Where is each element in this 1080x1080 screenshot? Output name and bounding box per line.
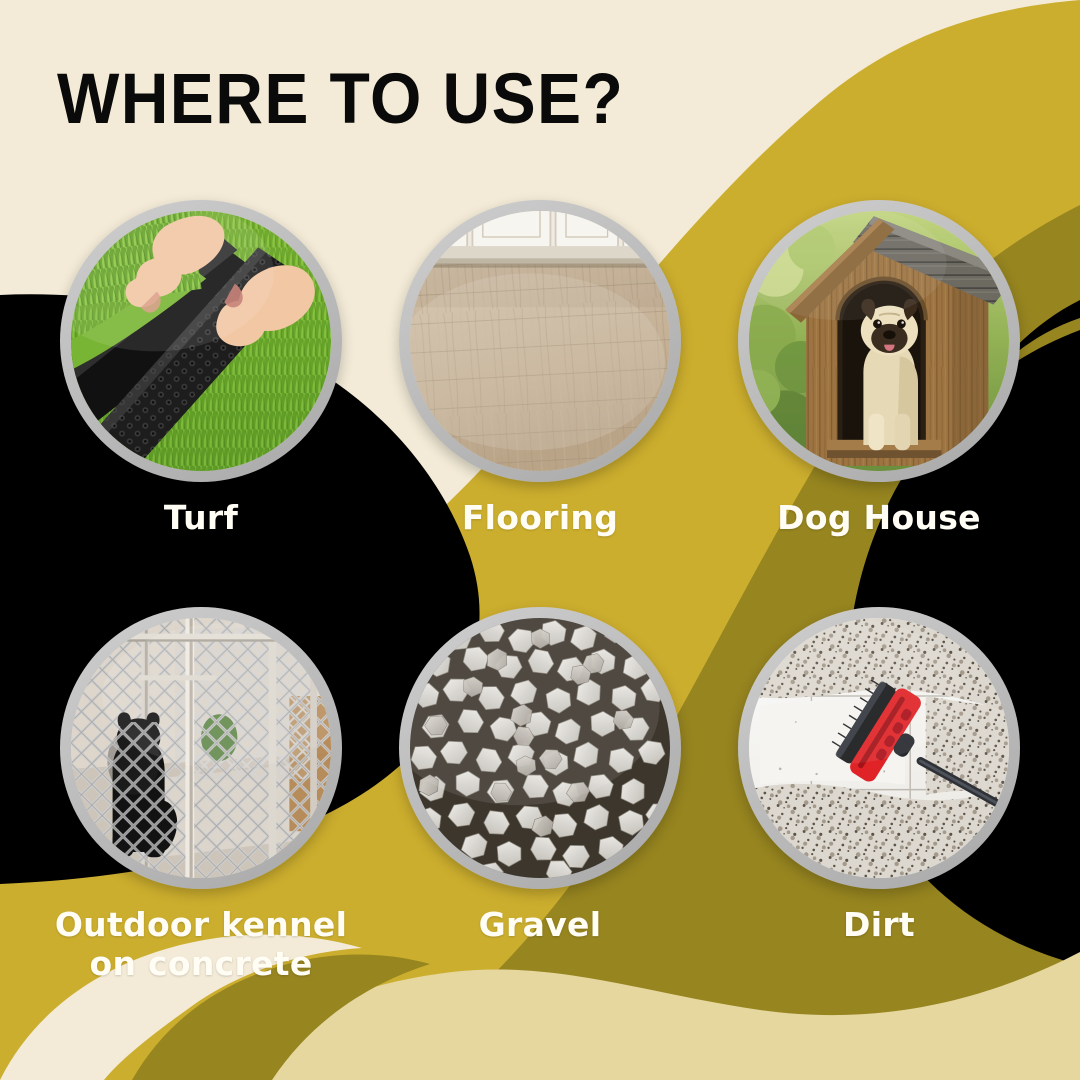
dog-house-photo-icon	[749, 211, 1009, 471]
use-case-item-flooring[interactable]: Flooring	[389, 200, 691, 538]
gravel-photo-icon	[410, 618, 670, 878]
use-case-label: Turf	[50, 499, 352, 538]
photo-ring	[738, 607, 1020, 889]
dirt-photo-icon	[749, 618, 1009, 878]
use-case-item-dirt[interactable]: Dirt	[728, 607, 1030, 945]
photo-ring	[738, 200, 1020, 482]
use-case-item-outdoor-kennel[interactable]: Outdoor kennel on concrete	[50, 607, 352, 984]
use-case-label: Flooring	[389, 499, 691, 538]
use-case-label: Gravel	[389, 906, 691, 945]
use-case-label: Outdoor kennel on concrete	[50, 906, 352, 984]
photo-ring	[60, 200, 342, 482]
use-case-item-turf[interactable]: Turf	[50, 200, 352, 538]
use-case-label: Dirt	[728, 906, 1030, 945]
flooring-photo-icon	[410, 211, 670, 471]
turf-photo-icon	[71, 211, 331, 471]
use-case-item-gravel[interactable]: Gravel	[389, 607, 691, 945]
outdoor-kennel-photo-icon	[71, 618, 331, 878]
use-case-grid: Turf	[0, 0, 1080, 1080]
photo-ring	[60, 607, 342, 889]
photo-ring	[399, 607, 681, 889]
use-case-label: Dog House	[728, 499, 1030, 538]
photo-ring	[399, 200, 681, 482]
poster-canvas: WHERE TO USE?	[0, 0, 1080, 1080]
use-case-item-dog-house[interactable]: Dog House	[728, 200, 1030, 538]
page-title: WHERE TO USE?	[57, 64, 624, 135]
